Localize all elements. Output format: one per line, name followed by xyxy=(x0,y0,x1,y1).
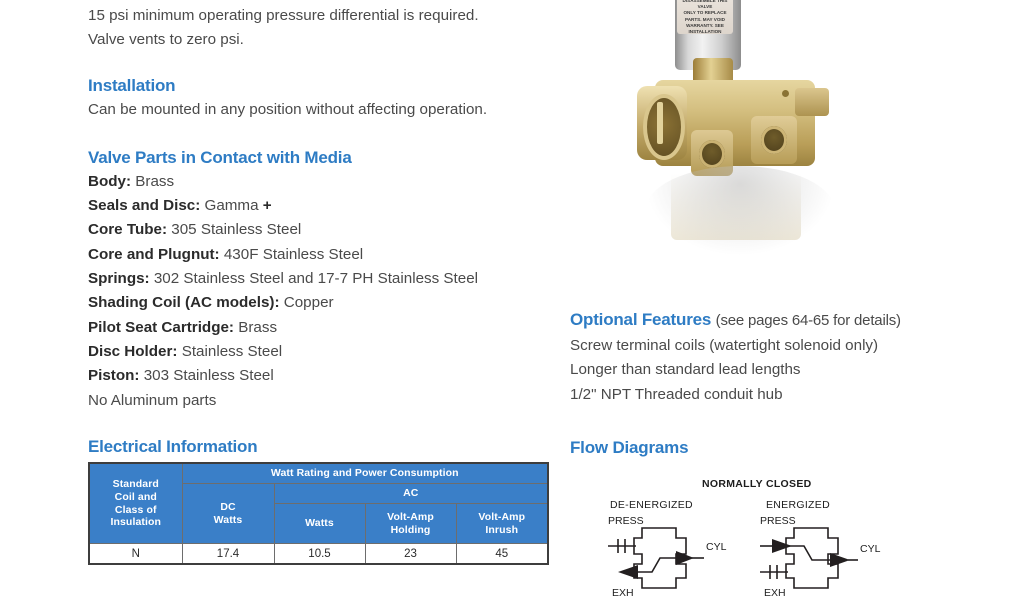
left-column: 15 psi minimum operating pressure differ… xyxy=(88,0,558,413)
part-value: 305 Stainless Steel xyxy=(171,221,301,238)
part-label: Core and Plugnut: xyxy=(88,246,220,263)
list-item: Core Tube: 305 Stainless Steel xyxy=(88,218,558,242)
list-item: Shading Coil (AC models): Copper xyxy=(88,291,558,315)
part-value: Brass xyxy=(238,319,277,336)
installation-heading: Installation xyxy=(88,76,558,96)
valve-parts-heading: Valve Parts in Contact with Media xyxy=(88,148,558,168)
brass-end-cap-slot xyxy=(657,102,663,144)
warning-label-text: DISASSEMBLE THIS VALVE ONLY TO REPLACE P… xyxy=(679,0,731,34)
header-line: Volt-Amp xyxy=(366,511,456,524)
list-item: No Aluminum parts xyxy=(88,389,558,413)
brass-set-screw xyxy=(782,90,789,97)
flow-group-title-normally-closed: NORMALLY CLOSED xyxy=(702,478,812,490)
installation-text: Can be mounted in any position without a… xyxy=(88,98,558,122)
header-line: Watts xyxy=(183,514,274,527)
part-value: 302 Stainless Steel and 17-7 PH Stainles… xyxy=(154,270,478,287)
electrical-information-heading: Electrical Information xyxy=(88,437,257,457)
part-label: Shading Coil (AC models): xyxy=(88,294,280,311)
col-header-volt-amp-inrush: Volt-Amp Inrush xyxy=(456,504,548,544)
cell-volt-amp-inrush: 45 xyxy=(456,544,548,565)
part-value: Gamma xyxy=(205,197,259,214)
part-label: Core Tube: xyxy=(88,221,167,238)
product-photo-solenoid-valve: WARNING DISASSEMBLE THIS VALVE ONLY TO R… xyxy=(615,0,975,290)
cell-volt-amp-holding: 23 xyxy=(365,544,456,565)
list-item: Springs: 302 Stainless Steel and 17-7 PH… xyxy=(88,267,558,291)
list-item: Disc Holder: Stainless Steel xyxy=(88,340,558,364)
list-item: Core and Plugnut: 430F Stainless Steel xyxy=(88,243,558,267)
port-label-exh: EXH xyxy=(764,587,786,599)
col-header-volt-amp-holding: Volt-Amp Holding xyxy=(365,504,456,544)
header-line: Class of xyxy=(90,504,182,517)
part-value: Copper xyxy=(284,294,334,311)
list-item: Body: Brass xyxy=(88,170,558,194)
arrow-exh xyxy=(618,565,638,579)
brass-port-front-right-opening xyxy=(761,126,787,154)
header-line: Holding xyxy=(366,524,456,537)
col-header-watt-rating-group: Watt Rating and Power Consumption xyxy=(182,463,548,484)
header-line: Standard xyxy=(90,478,182,491)
list-item: Seals and Disc: Gamma + xyxy=(88,194,558,218)
col-header-standard-coil: Standard Coil and Class of Insulation xyxy=(89,463,182,544)
part-label: Disc Holder: xyxy=(88,343,177,360)
valve-parts-list: Body: Brass Seals and Disc: Gamma + Core… xyxy=(88,170,558,413)
header-line: Coil and xyxy=(90,491,182,504)
table-row: N 17.4 10.5 23 45 xyxy=(89,544,548,565)
optional-features-note: (see pages 64-65 for details) xyxy=(716,312,901,329)
intro-line-2: Valve vents to zero psi. xyxy=(88,28,558,52)
arrow-cyl xyxy=(676,551,694,565)
page-canvas: 15 psi minimum operating pressure differ… xyxy=(0,0,1024,600)
header-line: Volt-Amp xyxy=(457,511,548,524)
flow-diagrams-area: NORMALLY CLOSED DE-ENERGIZED ENERGIZED P… xyxy=(570,478,970,600)
cell-standard-coil: N xyxy=(89,544,182,565)
flow-state-label-de-energized: DE-ENERGIZED xyxy=(610,499,693,511)
arrow-cyl xyxy=(830,553,850,567)
port-label-press: PRESS xyxy=(760,515,796,527)
optional-features-list: Screw terminal coils (watertight solenoi… xyxy=(570,334,878,407)
list-item: Longer than standard lead lengths xyxy=(570,358,878,382)
warning-line: ONLY TO REPLACE xyxy=(679,10,731,16)
part-label: Piston: xyxy=(88,367,139,384)
cell-ac-watts: 10.5 xyxy=(274,544,365,565)
table-row: Standard Coil and Class of Insulation Wa… xyxy=(89,463,548,484)
intro-paragraph: 15 psi minimum operating pressure differ… xyxy=(88,0,558,53)
electrical-table: Standard Coil and Class of Insulation Wa… xyxy=(88,462,549,565)
port-label-cyl: CYL xyxy=(860,543,881,555)
optional-features-title: Optional Features xyxy=(570,310,711,329)
col-header-ac-watts: Watts xyxy=(274,504,365,544)
header-line: DC xyxy=(183,501,274,514)
flow-state-label-energized: ENERGIZED xyxy=(766,499,830,511)
col-header-dc-watts: DC Watts xyxy=(182,484,274,544)
port-label-press: PRESS xyxy=(608,515,644,527)
part-label: Pilot Seat Cartridge: xyxy=(88,319,234,336)
warning-label: WARNING DISASSEMBLE THIS VALVE ONLY TO R… xyxy=(677,0,733,34)
electrical-table-container: Standard Coil and Class of Insulation Wa… xyxy=(88,462,547,565)
col-header-ac-group: AC xyxy=(274,484,548,504)
header-line: Insulation xyxy=(90,516,182,529)
warning-line: PARTS. MAY VOID xyxy=(679,17,731,23)
header-line: Inrush xyxy=(457,524,548,537)
flow-diagram-de-energized: PRESS CYL EXH xyxy=(606,514,746,600)
part-label: Springs: xyxy=(88,270,150,287)
part-suffix: + xyxy=(263,197,272,214)
warning-line: INSTALLATION xyxy=(679,29,731,34)
arrow-press xyxy=(772,539,792,553)
list-item: Screw terminal coils (watertight solenoi… xyxy=(570,334,878,358)
brass-end-cap-ring xyxy=(643,94,685,160)
part-label: Seals and Disc: xyxy=(88,197,200,214)
part-value: 430F Stainless Steel xyxy=(224,246,363,263)
list-item: 1/2" NPT Threaded conduit hub xyxy=(570,383,878,407)
port-label-cyl: CYL xyxy=(706,541,727,553)
cell-dc-watts: 17.4 xyxy=(182,544,274,565)
flow-diagram-energized: PRESS CYL EXH xyxy=(758,514,898,600)
part-value: No Aluminum parts xyxy=(88,392,216,409)
optional-features-heading: Optional Features (see pages 64-65 for d… xyxy=(570,310,901,331)
brass-port-upper-right xyxy=(795,88,829,116)
intro-line-1: 15 psi minimum operating pressure differ… xyxy=(88,4,558,28)
part-value: 303 Stainless Steel xyxy=(144,367,274,384)
port-label-exh: EXH xyxy=(612,587,634,599)
part-value: Brass xyxy=(135,173,174,190)
part-value: Stainless Steel xyxy=(182,343,282,360)
flow-diagrams-heading: Flow Diagrams xyxy=(570,438,688,458)
valve-shadow xyxy=(645,166,835,256)
header-line: Watts xyxy=(275,517,365,530)
warning-line: DISASSEMBLE THIS VALVE xyxy=(679,0,731,10)
list-item: Pilot Seat Cartridge: Brass xyxy=(88,316,558,340)
list-item: Piston: 303 Stainless Steel xyxy=(88,364,558,388)
part-label: Body: xyxy=(88,173,131,190)
